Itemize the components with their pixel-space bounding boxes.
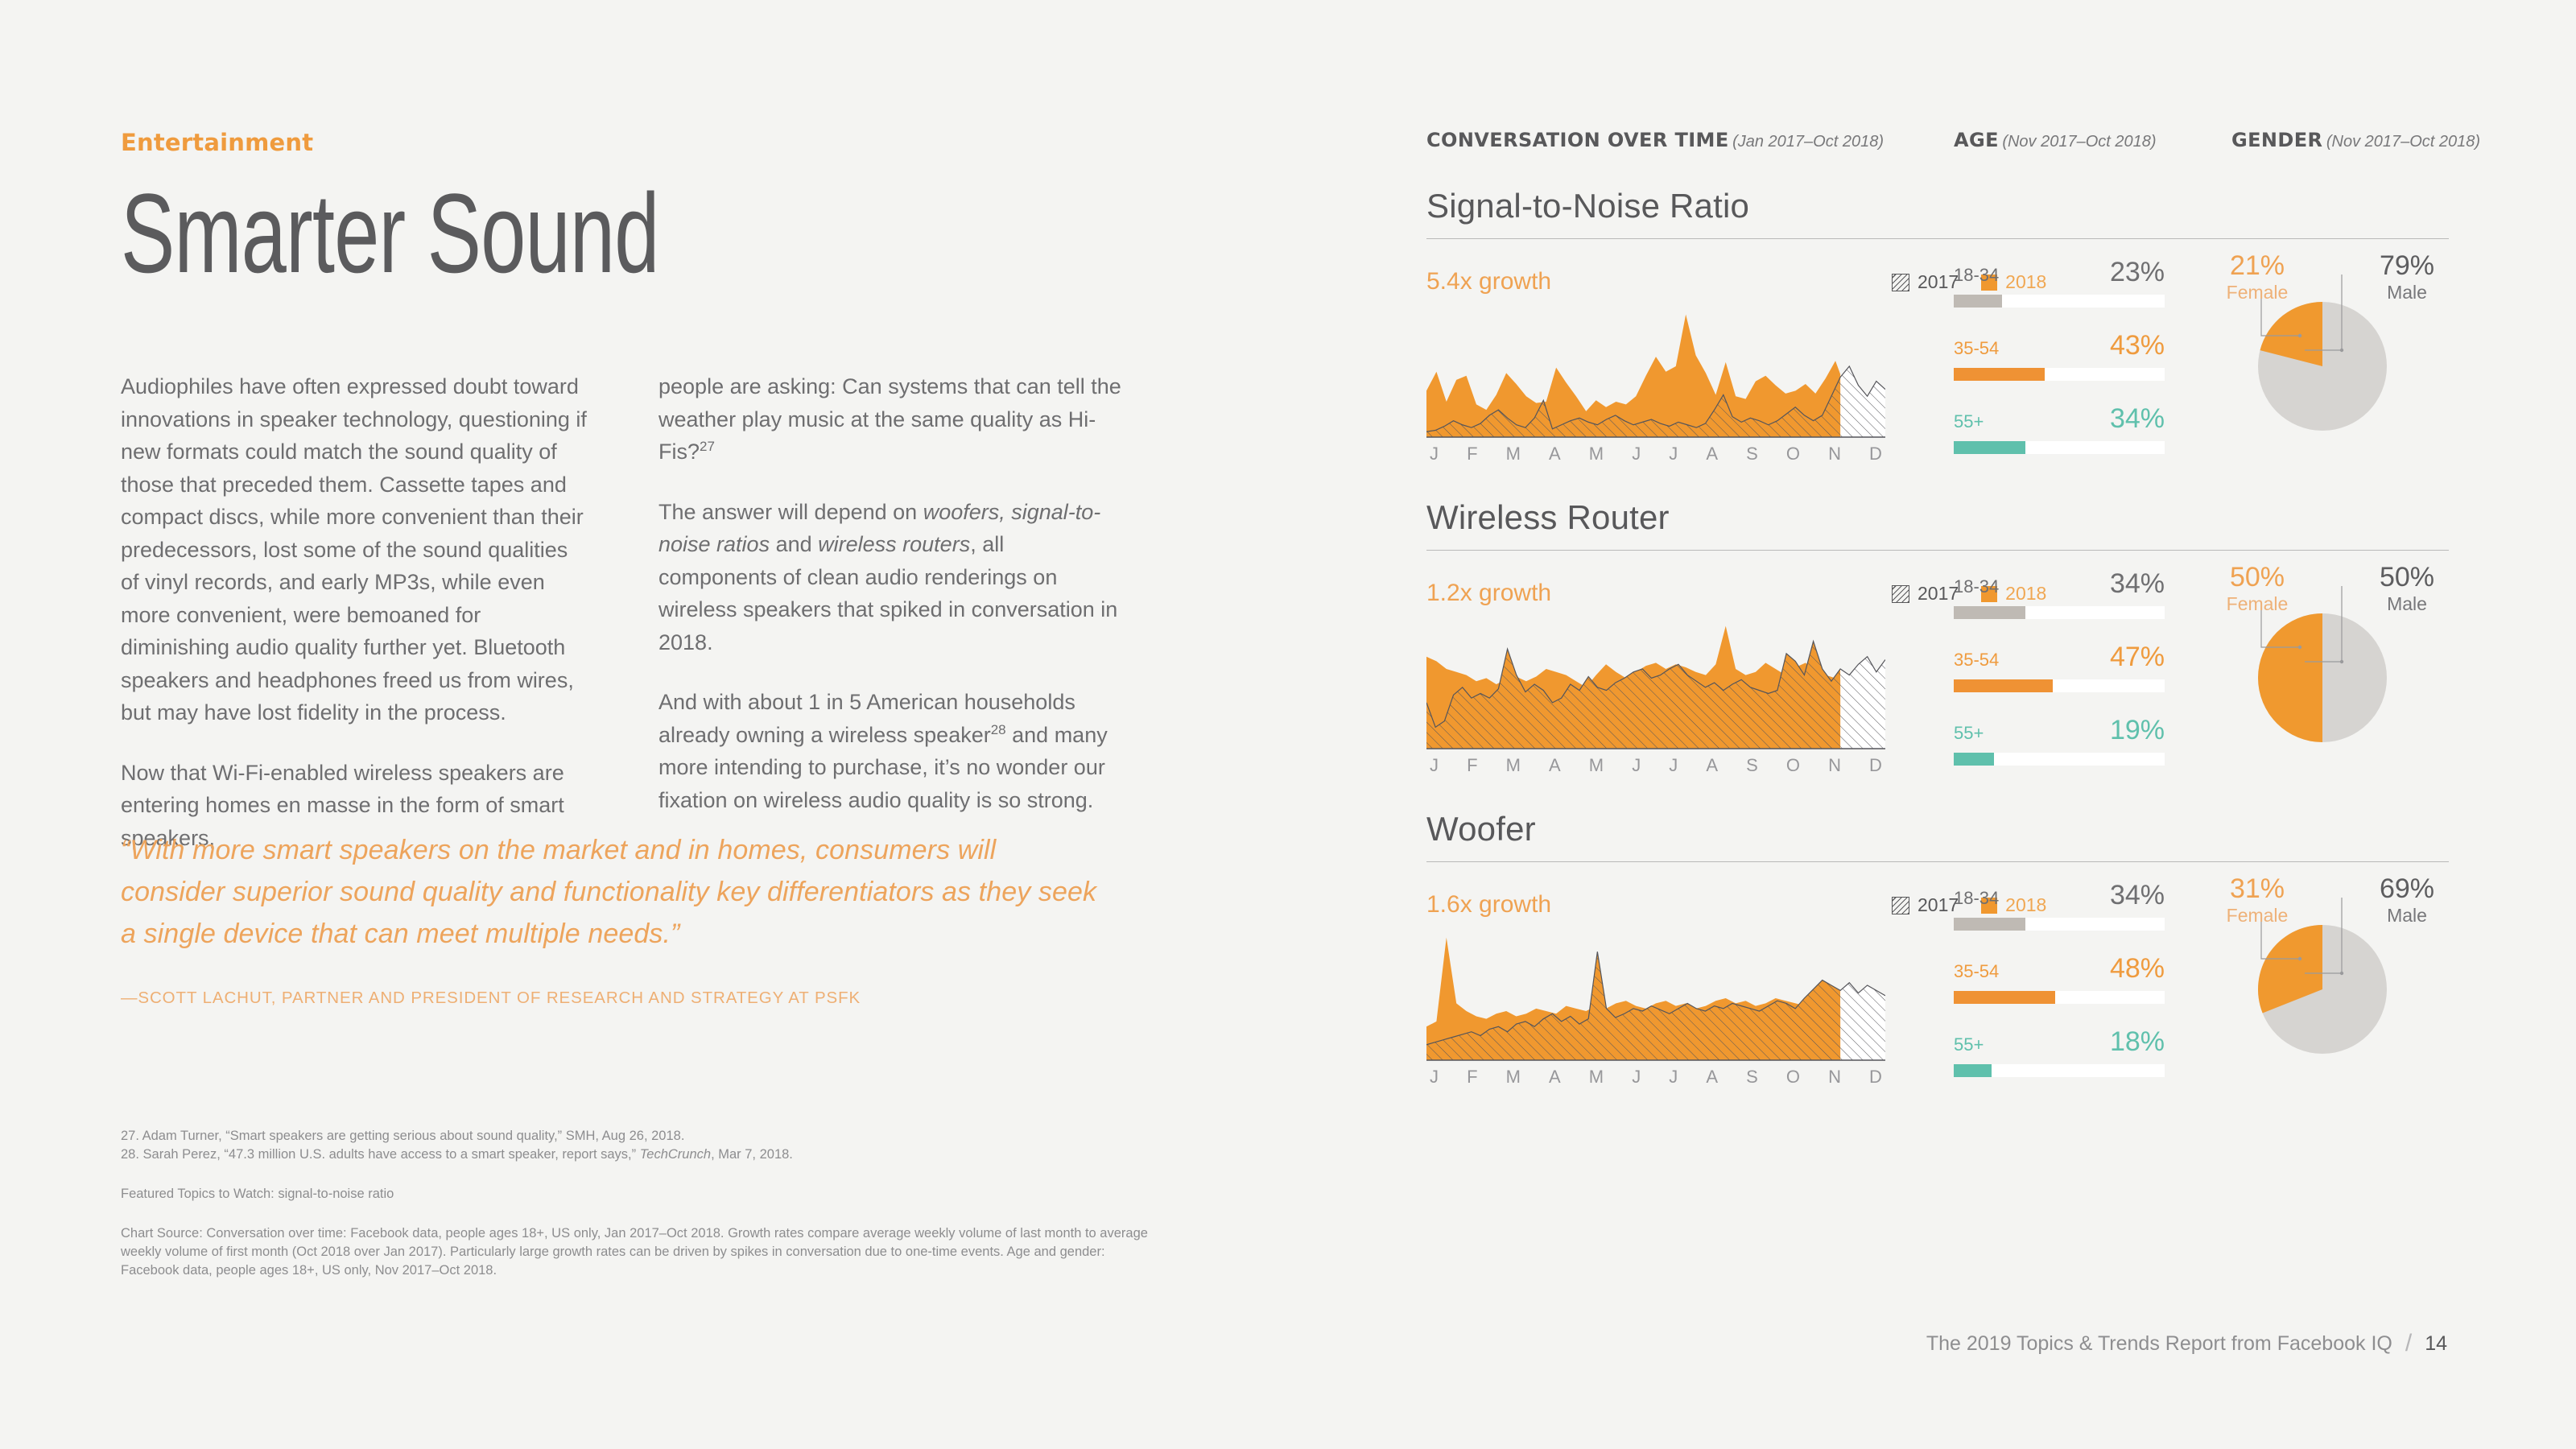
month-tick: J	[1669, 1067, 1678, 1088]
month-tick: A	[1706, 444, 1718, 464]
growth-label: 1.6x growth	[1426, 891, 1551, 919]
age-bar-fill	[1954, 918, 2025, 931]
month-tick: A	[1706, 1067, 1718, 1088]
month-tick: J	[1632, 1067, 1641, 1088]
section-kicker: Entertainment	[121, 129, 1248, 156]
legend-swatch-2017-icon	[1892, 274, 1909, 291]
gender-female-label: 50% Female	[2197, 563, 2318, 617]
age-group-value: 19%	[2110, 715, 2165, 746]
paragraph: people are asking: Can systems that can …	[658, 370, 1125, 469]
month-tick: J	[1430, 1067, 1439, 1088]
age-breakdown: 18-34 34% 35-54 47% 55+ 19%	[1954, 568, 2165, 766]
month-tick: O	[1786, 444, 1800, 464]
page-number: 14	[2425, 1332, 2447, 1356]
month-axis: JFMAMJJASOND	[1426, 1067, 1885, 1088]
age-group-label: 18-34	[1954, 888, 1999, 909]
column-header-title: GENDER	[2231, 129, 2322, 151]
column-header-title: CONVERSATION OVER TIME	[1426, 129, 1729, 151]
month-tick: M	[1506, 444, 1521, 464]
footnotes-block: 27. Adam Turner, “Smart speakers are get…	[121, 1127, 1159, 1280]
paragraph: Audiophiles have often expressed doubt t…	[121, 370, 588, 729]
female-percent: 50%	[2197, 563, 2318, 592]
page-footer: The 2019 Topics & Trends Report from Fac…	[1926, 1330, 2447, 1357]
report-page: Entertainment Smarter Sound Audiophiles …	[0, 0, 2576, 1449]
age-row: 35-54 43%	[1954, 330, 2165, 381]
female-caption: Female	[2197, 904, 2318, 928]
column-header-range: (Nov 2017–Oct 2018)	[2002, 133, 2156, 151]
month-tick: J	[1430, 444, 1439, 464]
column-header-range: (Nov 2017–Oct 2018)	[2326, 133, 2480, 151]
pull-quote-attribution: —SCOTT LACHUT, PARTNER AND PRESIDENT OF …	[121, 989, 1103, 1008]
female-caption: Female	[2197, 592, 2318, 617]
month-tick: F	[1467, 755, 1477, 776]
age-group-value: 34%	[2110, 568, 2165, 600]
age-row: 35-54 47%	[1954, 642, 2165, 692]
male-percent: 69%	[2347, 875, 2467, 904]
female-caption: Female	[2197, 281, 2318, 305]
female-leader-dot	[2298, 646, 2301, 649]
male-caption: Male	[2347, 904, 2467, 928]
age-breakdown: 18-34 34% 35-54 48% 55+ 18%	[1954, 880, 2165, 1077]
age-group-value: 18%	[2110, 1026, 2165, 1058]
female-leader-dot	[2298, 957, 2301, 960]
paragraph-text: The answer will depend on	[658, 500, 923, 524]
paragraph: And with about 1 in 5 American household…	[658, 686, 1125, 816]
female-leader-dot	[2298, 334, 2301, 337]
column-header-conversation: CONVERSATION OVER TIME (Jan 2017–Oct 201…	[1426, 129, 1884, 151]
page-title: Smarter Sound	[121, 177, 932, 290]
age-row: 18-34 23%	[1954, 257, 2165, 308]
legend-swatch-2017-icon	[1892, 585, 1909, 603]
gender-male-label: 69% Male	[2347, 875, 2467, 928]
chart-column-headers: CONVERSATION OVER TIME (Jan 2017–Oct 201…	[1426, 129, 2449, 161]
male-caption: Male	[2347, 281, 2467, 305]
pie-female-slice	[2258, 613, 2322, 742]
age-bar-fill	[1954, 606, 2025, 619]
month-tick: N	[1828, 444, 1841, 464]
footnote-28: 28. Sarah Perez, “47.3 million U.S. adul…	[121, 1146, 1159, 1164]
age-bar-fill	[1954, 1064, 1992, 1077]
month-axis: JFMAMJJASOND	[1426, 755, 1885, 776]
column-header-range: (Jan 2017–Oct 2018)	[1732, 133, 1884, 151]
age-group-label: 55+	[1954, 411, 1984, 432]
month-tick: O	[1786, 1067, 1800, 1088]
growth-label: 5.4x growth	[1426, 268, 1551, 295]
age-bar-fill	[1954, 679, 2053, 692]
featured-topics: Featured Topics to Watch: signal-to-nois…	[121, 1185, 1159, 1203]
age-bar-track	[1954, 1064, 2165, 1077]
chart-section: Woofer 1.6x growth 2017 2018	[1426, 810, 2449, 1096]
age-group-label: 35-54	[1954, 338, 1999, 359]
age-bar-fill	[1954, 753, 1994, 766]
pull-quote-block: “With more smart speakers on the market …	[121, 829, 1103, 1008]
age-row: 55+ 18%	[1954, 1026, 2165, 1077]
legend-label-2017: 2017	[1918, 271, 1959, 293]
chart-title: Signal-to-Noise Ratio	[1426, 187, 2449, 225]
age-group-value: 34%	[2110, 880, 2165, 911]
age-row: 18-34 34%	[1954, 568, 2165, 619]
chart-source: Chart Source: Conversation over time: Fa…	[121, 1224, 1159, 1280]
male-percent: 79%	[2347, 252, 2467, 281]
month-axis: JFMAMJJASOND	[1426, 444, 1885, 464]
male-leader-dot	[2340, 349, 2343, 352]
month-tick: F	[1467, 1067, 1477, 1088]
age-bar-fill	[1954, 368, 2045, 381]
month-tick: J	[1430, 755, 1439, 776]
age-group-value: 43%	[2110, 330, 2165, 361]
footer-separator: /	[2405, 1330, 2412, 1357]
gender-pie-chart: 21% Female 79% Male	[2203, 247, 2445, 448]
month-tick: S	[1746, 444, 1758, 464]
month-tick: S	[1746, 1067, 1758, 1088]
chart-title: Woofer	[1426, 810, 2449, 848]
area-2017-overlap	[1426, 642, 1885, 749]
age-row: 18-34 34%	[1954, 880, 2165, 931]
footnote-27: 27. Adam Turner, “Smart speakers are get…	[121, 1127, 1159, 1146]
age-row: 55+ 19%	[1954, 715, 2165, 766]
male-caption: Male	[2347, 592, 2467, 617]
month-tick: A	[1706, 755, 1718, 776]
growth-label: 1.2x growth	[1426, 580, 1551, 607]
month-tick: M	[1589, 755, 1604, 776]
age-group-value: 23%	[2110, 257, 2165, 288]
conversation-area-chart	[1426, 931, 1885, 1060]
age-bar-track	[1954, 368, 2165, 381]
conversation-area-chart	[1426, 620, 1885, 749]
age-group-label: 18-34	[1954, 265, 1999, 286]
age-bar-track	[1954, 606, 2165, 619]
age-bar-track	[1954, 441, 2165, 454]
age-row: 55+ 34%	[1954, 403, 2165, 454]
month-tick: M	[1506, 1067, 1521, 1088]
month-tick: D	[1869, 1067, 1882, 1088]
legend-swatch-2017-icon	[1892, 897, 1909, 914]
age-group-value: 47%	[2110, 642, 2165, 673]
footnote-ref-27: 27	[700, 439, 715, 454]
month-tick: M	[1589, 444, 1604, 464]
age-bar-track	[1954, 679, 2165, 692]
chart-section: Wireless Router 1.2x growth 2017 2018	[1426, 498, 2449, 784]
month-tick: D	[1869, 444, 1882, 464]
age-bar-track	[1954, 918, 2165, 931]
month-tick: M	[1589, 1067, 1604, 1088]
month-tick: N	[1828, 755, 1841, 776]
gender-pie-chart: 31% Female 69% Male	[2203, 870, 2445, 1071]
male-leader-dot	[2340, 972, 2343, 975]
month-tick: J	[1669, 755, 1678, 776]
column-header-age: AGE (Nov 2017–Oct 2018)	[1954, 129, 2157, 151]
age-bar-track	[1954, 991, 2165, 1004]
body-text-columns: Audiophiles have often expressed doubt t…	[121, 370, 1135, 854]
age-bar-track	[1954, 295, 2165, 308]
paragraph-text: people are asking: Can systems that can …	[658, 374, 1121, 464]
month-tick: F	[1467, 444, 1477, 464]
body-column-2: people are asking: Can systems that can …	[658, 370, 1125, 854]
age-group-label: 55+	[1954, 723, 1984, 744]
month-tick: D	[1869, 755, 1882, 776]
legend-label-2017: 2017	[1918, 583, 1959, 605]
footnote-ref-28: 28	[991, 722, 1006, 737]
age-bar-fill	[1954, 441, 2025, 454]
report-name: The 2019 Topics & Trends Report from Fac…	[1926, 1332, 2392, 1356]
chart-title: Wireless Router	[1426, 498, 2449, 537]
age-bar-track	[1954, 753, 2165, 766]
month-tick: J	[1632, 444, 1641, 464]
gender-female-label: 21% Female	[2197, 252, 2318, 305]
month-tick: A	[1549, 444, 1561, 464]
paragraph: The answer will depend on woofers, signa…	[658, 496, 1125, 659]
footnote-text: 28. Sarah Perez, “47.3 million U.S. adul…	[121, 1147, 640, 1162]
age-group-label: 35-54	[1954, 650, 1999, 671]
month-tick: A	[1549, 755, 1561, 776]
age-group-value: 48%	[2110, 953, 2165, 985]
paragraph-text: and	[770, 532, 818, 556]
female-percent: 21%	[2197, 252, 2318, 281]
age-group-value: 34%	[2110, 403, 2165, 435]
pull-quote: “With more smart speakers on the market …	[121, 829, 1103, 955]
gender-male-label: 50% Male	[2347, 563, 2467, 617]
gender-pie-chart: 50% Female 50% Male	[2203, 559, 2445, 760]
month-tick: J	[1669, 444, 1678, 464]
chart-section: Signal-to-Noise Ratio 5.4x growth 2017 2…	[1426, 187, 2449, 473]
footnote-text: , Mar 7, 2018.	[711, 1147, 793, 1162]
month-tick: J	[1632, 755, 1641, 776]
charts-panel: CONVERSATION OVER TIME (Jan 2017–Oct 201…	[1426, 129, 2449, 1096]
month-tick: S	[1746, 755, 1758, 776]
month-tick: A	[1549, 1067, 1561, 1088]
column-header-title: AGE	[1954, 129, 1999, 151]
emphasis-terms: wireless routers	[818, 532, 970, 556]
gender-female-label: 31% Female	[2197, 875, 2318, 928]
gender-male-label: 79% Male	[2347, 252, 2467, 305]
age-bar-fill	[1954, 295, 2002, 308]
month-tick: N	[1828, 1067, 1841, 1088]
legend-label-2017: 2017	[1918, 894, 1959, 916]
age-row: 35-54 48%	[1954, 953, 2165, 1004]
conversation-area-chart	[1426, 308, 1885, 437]
age-group-label: 35-54	[1954, 961, 1999, 982]
month-tick: O	[1786, 755, 1800, 776]
age-group-label: 18-34	[1954, 576, 1999, 597]
female-percent: 31%	[2197, 875, 2318, 904]
article-left-column: Entertainment Smarter Sound Audiophiles …	[121, 129, 1248, 290]
age-breakdown: 18-34 23% 35-54 43% 55+ 34%	[1954, 257, 2165, 454]
month-tick: M	[1506, 755, 1521, 776]
column-header-gender: GENDER (Nov 2017–Oct 2018)	[2231, 129, 2480, 151]
body-column-1: Audiophiles have often expressed doubt t…	[121, 370, 588, 854]
publication-name: TechCrunch	[640, 1147, 711, 1162]
male-leader-dot	[2340, 660, 2343, 663]
male-percent: 50%	[2347, 563, 2467, 592]
age-group-label: 55+	[1954, 1034, 1984, 1055]
age-bar-fill	[1954, 991, 2055, 1004]
